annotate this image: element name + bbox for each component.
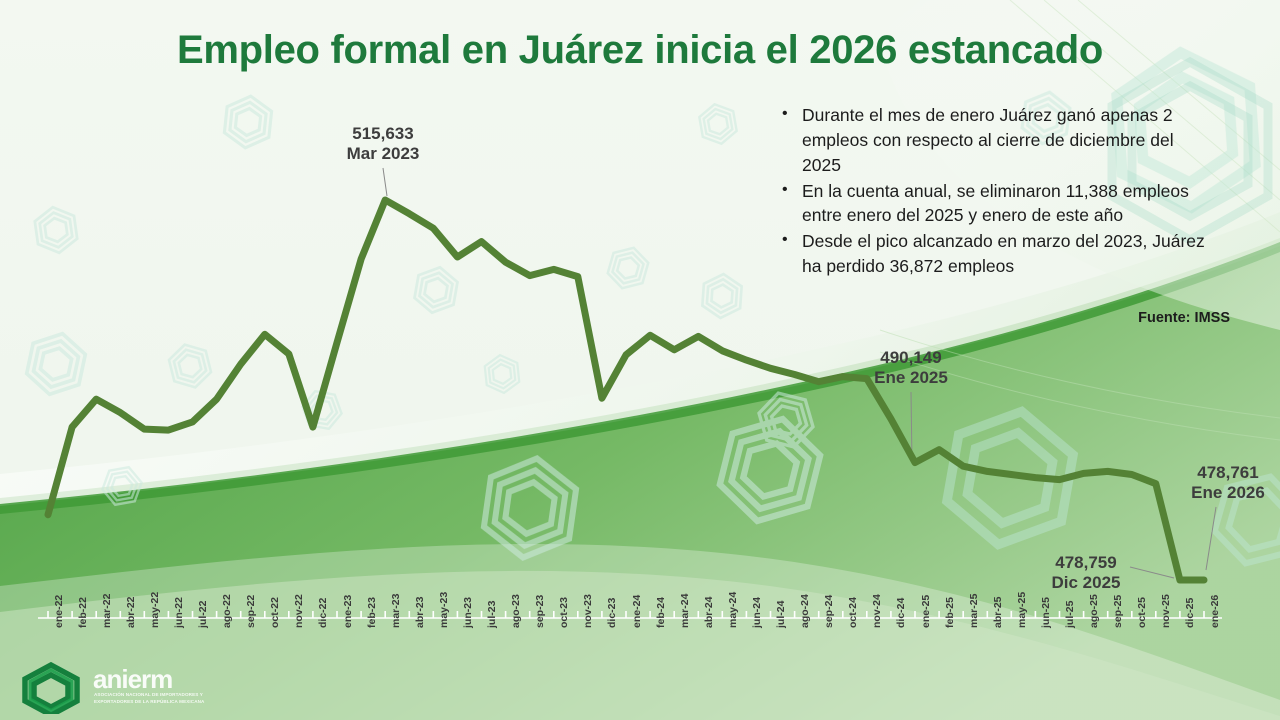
x-axis-tick-label: dic-24: [895, 598, 907, 628]
x-axis-tick-label: sep-22: [245, 595, 257, 628]
x-axis-tick-label: may-22: [149, 592, 161, 628]
logo-wordmark: anierm: [93, 664, 172, 695]
x-axis-tick-label: sep-25: [1112, 595, 1124, 628]
x-axis-tick-label: oct-23: [558, 597, 570, 628]
x-axis-tick-label: jul-24: [775, 601, 787, 628]
x-axis-tick-label: nov-24: [871, 594, 883, 628]
x-axis-tick-label: nov-25: [1160, 594, 1172, 628]
x-axis-tick-label: mar-22: [101, 594, 113, 628]
x-axis-tick-label: jun-22: [173, 597, 185, 628]
x-axis-tick-label: abr-25: [992, 596, 1004, 628]
x-axis-tick-label: may-23: [438, 592, 450, 628]
x-axis-tick-label: abr-24: [703, 596, 715, 628]
x-axis-labels: ene-22feb-22mar-22abr-22may-22jun-22jul-…: [0, 0, 1280, 720]
x-axis-tick-label: mar-25: [968, 594, 980, 628]
x-axis-tick-label: jun-24: [751, 597, 763, 628]
x-axis-tick-label: jun-25: [1040, 597, 1052, 628]
x-axis-tick-label: oct-24: [847, 597, 859, 628]
x-axis-tick-label: feb-25: [944, 597, 956, 628]
x-axis-tick-label: ago-22: [221, 594, 233, 628]
x-axis-tick-label: dic-25: [1184, 598, 1196, 628]
x-axis-tick-label: sep-23: [534, 595, 546, 628]
x-axis-tick-label: ene-25: [920, 595, 932, 628]
anierm-logo: anierm ASOCIACIÓN NACIONAL DE IMPORTADOR…: [18, 662, 208, 714]
x-axis-tick-label: abr-23: [414, 596, 426, 628]
x-axis-tick-label: feb-23: [366, 597, 378, 628]
anierm-hex-mark: [18, 662, 88, 714]
x-axis-tick-label: may-25: [1016, 592, 1028, 628]
x-axis-tick-label: jun-23: [462, 597, 474, 628]
x-axis-tick-label: sep-24: [823, 595, 835, 628]
x-axis-tick-label: oct-25: [1136, 597, 1148, 628]
slide-canvas: Empleo formal en Juárez inicia el 2026 e…: [0, 0, 1280, 720]
x-axis-tick-label: ene-24: [631, 595, 643, 628]
x-axis-tick-label: ene-22: [53, 595, 65, 628]
x-axis-tick-label: oct-22: [269, 597, 281, 628]
x-axis-tick-label: mar-24: [679, 594, 691, 628]
logo-tagline: ASOCIACIÓN NACIONAL DE IMPORTADORES Y EX…: [94, 692, 214, 706]
x-axis-tick-label: ene-26: [1209, 595, 1221, 628]
x-axis-tick-label: ago-24: [799, 594, 811, 628]
x-axis-tick-label: may-24: [727, 592, 739, 628]
x-axis-tick-label: feb-22: [77, 597, 89, 628]
x-axis-tick-label: mar-23: [390, 594, 402, 628]
x-axis-tick-label: jul-25: [1064, 601, 1076, 628]
x-axis-tick-label: feb-24: [655, 597, 667, 628]
x-axis-tick-label: nov-23: [582, 594, 594, 628]
x-axis-tick-label: ene-23: [342, 595, 354, 628]
x-axis-tick-label: ago-25: [1088, 594, 1100, 628]
x-axis-tick-label: abr-22: [125, 596, 137, 628]
x-axis-tick-label: jul-22: [197, 601, 209, 628]
x-axis-tick-label: jul-23: [486, 601, 498, 628]
x-axis-tick-label: nov-22: [293, 594, 305, 628]
x-axis-tick-label: ago-23: [510, 594, 522, 628]
x-axis-tick-label: dic-22: [317, 598, 329, 628]
x-axis-tick-label: dic-23: [606, 598, 618, 628]
